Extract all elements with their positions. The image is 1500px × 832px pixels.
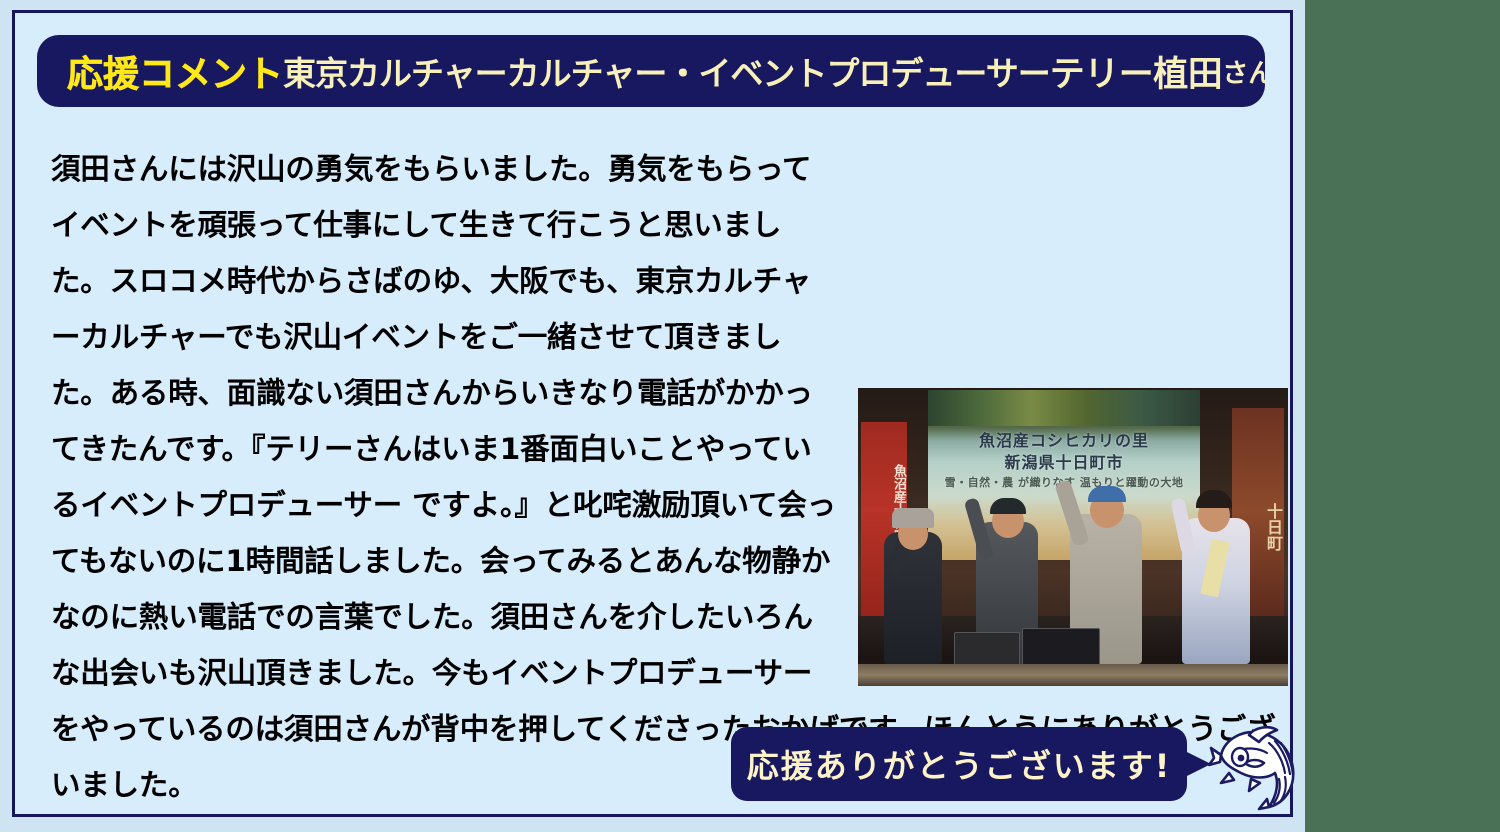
header-honorific: さん — [1222, 53, 1265, 90]
person-4-hair — [1196, 490, 1232, 508]
thanks-badge: 応援ありがとうございます! — [731, 727, 1187, 801]
laptop-left — [954, 632, 1020, 668]
person-1-body — [884, 532, 942, 664]
person-3-headband — [1088, 486, 1126, 502]
page-root: 応援コメント 東京カルチャーカルチャー・イベントプロデューサー テリー植田 さん… — [0, 0, 1305, 832]
event-photo: 魚沼産コシヒカリの里 新潟県十日町市 雪・自然・農 が織りなす 温もりと躍動の大… — [858, 388, 1288, 686]
person-2-hair — [990, 498, 1026, 514]
mackerel-icon — [1207, 717, 1307, 813]
photo-person-4 — [1176, 478, 1258, 664]
thanks-badge-text: 応援ありがとうございます! — [747, 741, 1172, 787]
header-banner: 応援コメント 東京カルチャーカルチャー・イベントプロデューサー テリー植田 さん — [37, 35, 1265, 107]
comment-panel: 応援コメント 東京カルチャーカルチャー・イベントプロデューサー テリー植田 さん… — [12, 10, 1293, 817]
photo-person-1 — [876, 494, 950, 664]
person-1-hat — [892, 508, 934, 528]
laptop-center — [1022, 628, 1100, 668]
screen-line-1: 魚沼産コシヒカリの里 — [928, 430, 1200, 452]
projection-screen-header-image — [928, 390, 1200, 426]
screen-line-2: 新潟県十日町市 — [928, 452, 1200, 474]
header-label: 応援コメント — [67, 45, 283, 97]
header-affiliation: 東京カルチャーカルチャー・イベントプロデューサー — [283, 47, 1050, 95]
front-table — [858, 664, 1288, 686]
header-person-name: テリー植田 — [1050, 46, 1223, 97]
